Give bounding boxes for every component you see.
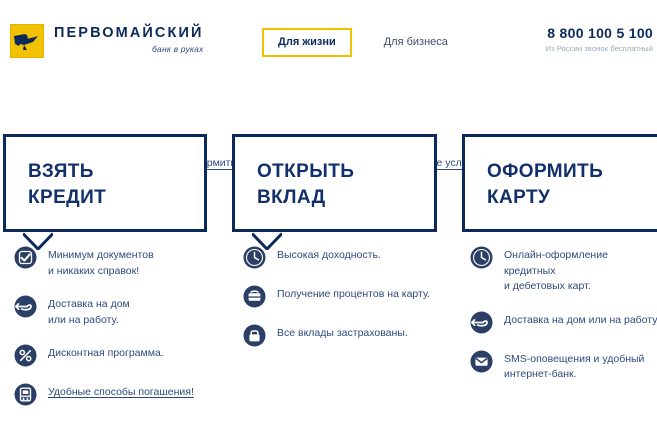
wallet-icon [243, 285, 266, 308]
feature-text: Минимум документови никаких справок! [48, 246, 154, 279]
tab-for-business[interactable]: Для бизнеса [370, 30, 462, 55]
brand-name: ПЕРВОМАЙСКИЙ [54, 26, 204, 41]
primary-nav: Взять кредит Открыть вклад Оформить карт… [0, 72, 657, 106]
list-item: Высокая доходность. [243, 246, 443, 269]
feature-column-credit: Минимум документови никаких справок! Дос… [14, 246, 214, 422]
bird-logo-icon [10, 24, 44, 58]
feature-text: Высокая доходность. [277, 246, 381, 264]
list-item: Дисконтная программа. [14, 344, 214, 367]
feature-text: Дисконтная программа. [48, 344, 164, 362]
logo[interactable]: ПЕРВОМАЙСКИЙ банк в руках [10, 24, 204, 58]
card-take-credit[interactable]: ВЗЯТЬКРЕДИТ [3, 134, 207, 232]
delivery-hand-icon [470, 311, 493, 334]
feature-link[interactable]: Удобные способы погашения! [48, 383, 194, 401]
phone-number[interactable]: 8 800 100 5 100 [546, 26, 653, 40]
feature-text: Получение процентов на карту. [277, 285, 430, 303]
lock-icon [243, 324, 266, 347]
audience-switcher: Для жизни Для бизнеса [262, 28, 462, 57]
list-item: Получение процентов на карту. [243, 285, 443, 308]
feature-text: SMS-оповещения и удобныйинтернет-банк. [504, 350, 644, 383]
feature-column-deposit: Высокая доходность. Получение процентов … [243, 246, 443, 363]
tab-for-life[interactable]: Для жизни [262, 28, 352, 57]
card-title: ОТКРЫТЬВКЛАД [257, 159, 354, 211]
logo-text: ПЕРВОМАЙСКИЙ банк в руках [54, 24, 204, 56]
clock-icon [243, 246, 266, 269]
clock-icon [470, 246, 493, 269]
feature-text: Доставка на дом или на работу. [504, 311, 657, 329]
list-item[interactable]: Удобные способы погашения! [14, 383, 214, 406]
delivery-hand-icon [14, 295, 37, 318]
check-circle-icon [14, 246, 37, 269]
page-root: ПЕРВОМАЙСКИЙ банк в руках Для жизни Для … [0, 0, 657, 421]
list-item: Доставка на дом или на работу. [470, 311, 657, 334]
list-item: Доставка на домили на работу. [14, 295, 214, 328]
site-header: ПЕРВОМАЙСКИЙ банк в руках Для жизни Для … [0, 0, 657, 72]
feature-text: Доставка на домили на работу. [48, 295, 130, 328]
phone-note: Из России звонок бесплатный [546, 44, 653, 53]
list-item: SMS-оповещения и удобныйинтернет-банк. [470, 350, 657, 383]
card-title: ВЗЯТЬКРЕДИТ [28, 159, 106, 211]
list-item: Все вклады застрахованы. [243, 324, 443, 347]
list-item: Онлайн-оформление кредитныхи дебетовых к… [470, 246, 657, 295]
card-order-card[interactable]: ОФОРМИТЬКАРТУ [462, 134, 657, 232]
card-open-deposit[interactable]: ОТКРЫТЬВКЛАД [232, 134, 437, 232]
envelope-icon [470, 350, 493, 373]
feature-text: Все вклады застрахованы. [277, 324, 408, 342]
feature-text: Онлайн-оформление кредитныхи дебетовых к… [504, 246, 657, 295]
feature-column-card: Онлайн-оформление кредитныхи дебетовых к… [470, 246, 657, 399]
brand-tagline: банк в руках [54, 44, 204, 54]
contact-phone-block: 8 800 100 5 100 Из России звонок бесплат… [546, 26, 653, 53]
list-item: Минимум документови никаких справок! [14, 246, 214, 279]
card-title: ОФОРМИТЬКАРТУ [487, 159, 603, 211]
atm-terminal-icon [14, 383, 37, 406]
percent-circle-icon [14, 344, 37, 367]
